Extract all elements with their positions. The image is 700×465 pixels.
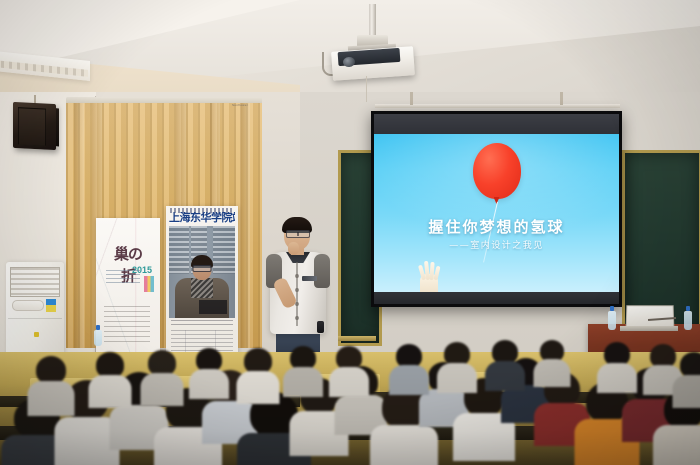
letterbox-bar-bottom [374, 292, 619, 304]
presenter-sleeve-right [314, 254, 330, 288]
audience-member [680, 352, 700, 378]
banner-left-bodytext [104, 306, 150, 346]
air-conditioner-seam [8, 318, 62, 319]
screen-brand-label: Sunflower [232, 103, 248, 107]
audience-member [196, 348, 222, 372]
air-conditioner-display [12, 300, 44, 311]
banner-right-caption [171, 320, 233, 328]
audience-member-torso [673, 375, 700, 408]
audience-member-torso [329, 367, 369, 397]
audience-member-torso [89, 375, 132, 408]
audience-member [96, 352, 124, 378]
air-conditioner-sticker [34, 332, 39, 337]
audience-member-torso [28, 381, 75, 416]
audience-member [492, 340, 518, 364]
audience-member-torso [141, 373, 184, 406]
presenter-shirt-logo [302, 276, 317, 281]
portrait-glasses-icon [193, 265, 212, 272]
portrait-held-poster [199, 300, 227, 314]
screen-hook [560, 92, 563, 105]
audience-member-torso [237, 371, 280, 404]
curtain-fold [240, 103, 250, 348]
slide-subtitle: ——室内设计之我见 [374, 238, 619, 251]
shirt-button [295, 316, 299, 320]
slide-title: 握住你梦想的氢球 [374, 216, 619, 237]
audience-member [650, 344, 676, 368]
screen-hook [410, 92, 413, 105]
audience-member [604, 342, 630, 366]
presenter [262, 216, 334, 364]
audience-member [540, 340, 564, 362]
audience-member [148, 350, 176, 376]
audience-member-torso [485, 361, 525, 391]
audience-member [444, 342, 470, 366]
letterbox-bar-top [374, 114, 619, 134]
laptop-keyboard[interactable] [620, 326, 678, 331]
building-facade [169, 226, 189, 274]
portrait-scarf [191, 278, 213, 298]
building-facade [213, 226, 235, 274]
presentation-slide: 握住你梦想的氢球 ——室内设计之我见 [374, 134, 619, 292]
banner-left: 巢の折 2015 [96, 218, 160, 354]
banner-right: 上海东华学院站 [166, 206, 238, 356]
water-bottle [684, 311, 692, 330]
air-conditioner-vent [10, 267, 60, 297]
audience-member-torso [534, 359, 571, 387]
audience-member-torso [437, 363, 477, 393]
lecture-hall-photo: 握住你梦想的氢球 ——室内设计之我见 Sunflower 巢の折 2015 上海… [0, 0, 700, 465]
projector-pull-cord [366, 76, 367, 102]
audience-member [244, 348, 272, 374]
audience-member-torso [370, 425, 438, 465]
audience-member [290, 346, 316, 370]
banner-right-photo [169, 226, 235, 318]
shirt-button [295, 274, 299, 278]
curtain-fold [74, 103, 84, 348]
water-bottle [608, 311, 616, 330]
audience-member-torso [389, 365, 429, 395]
banner-right-headline: 上海东华学院站 [169, 212, 235, 225]
presenter-remote-clicker[interactable] [317, 321, 324, 333]
audience-member-torso [189, 369, 229, 399]
audience-member-torso [283, 367, 323, 397]
projection-screen[interactable]: 握住你梦想的氢球 ——室内设计之我见 [371, 111, 622, 307]
finger [433, 266, 440, 281]
audience-member-torso [653, 425, 700, 465]
shirt-button [295, 288, 299, 292]
audience-member [36, 356, 66, 384]
presenter-hand [288, 242, 299, 255]
hand-graphic [416, 260, 442, 292]
balloon-graphic [473, 143, 521, 199]
chalk-tray-left [338, 336, 376, 341]
water-bottle [94, 330, 102, 346]
presenter-glasses-icon [286, 230, 310, 238]
audience-member [396, 344, 422, 368]
banner-left-logo: 巢の折 [109, 244, 147, 266]
projector-pole [369, 4, 376, 38]
audience-member-torso [597, 363, 637, 393]
wall-speaker [13, 102, 56, 150]
energy-label [46, 299, 56, 312]
audience-member [336, 346, 362, 370]
banner-left-colorbars [144, 276, 154, 292]
banner-left-subtext [106, 270, 140, 284]
screen-surface: 握住你梦想的氢球 ——室内设计之我见 [374, 114, 619, 304]
